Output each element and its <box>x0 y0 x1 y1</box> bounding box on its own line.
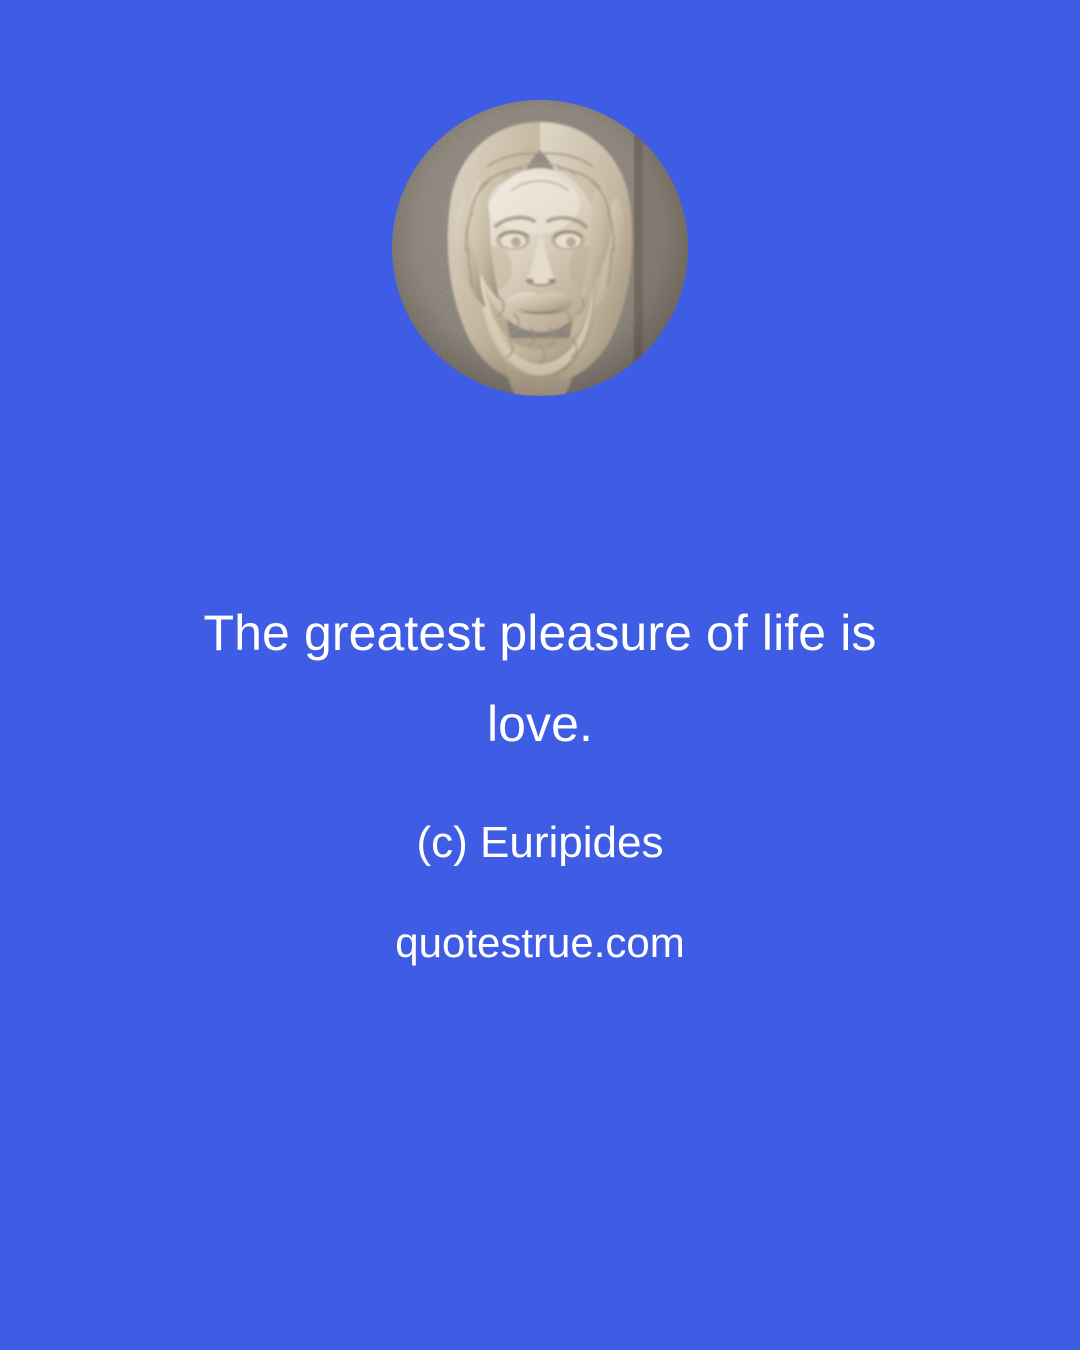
quote-line-2: love. <box>487 696 593 752</box>
euripides-bust-portrait <box>392 100 688 396</box>
quote-attribution: (c) Euripides <box>0 770 1080 888</box>
quote-card: The greatest pleasure of life is love. (… <box>0 0 1080 1350</box>
bust-portrait-image <box>392 100 688 396</box>
quote-text-block: The greatest pleasure of life is love. (… <box>0 560 1080 988</box>
quote-line-1: The greatest pleasure of life is <box>204 605 877 661</box>
quote-text: The greatest pleasure of life is love. <box>160 560 920 770</box>
source-website: quotestrue.com <box>0 888 1080 988</box>
